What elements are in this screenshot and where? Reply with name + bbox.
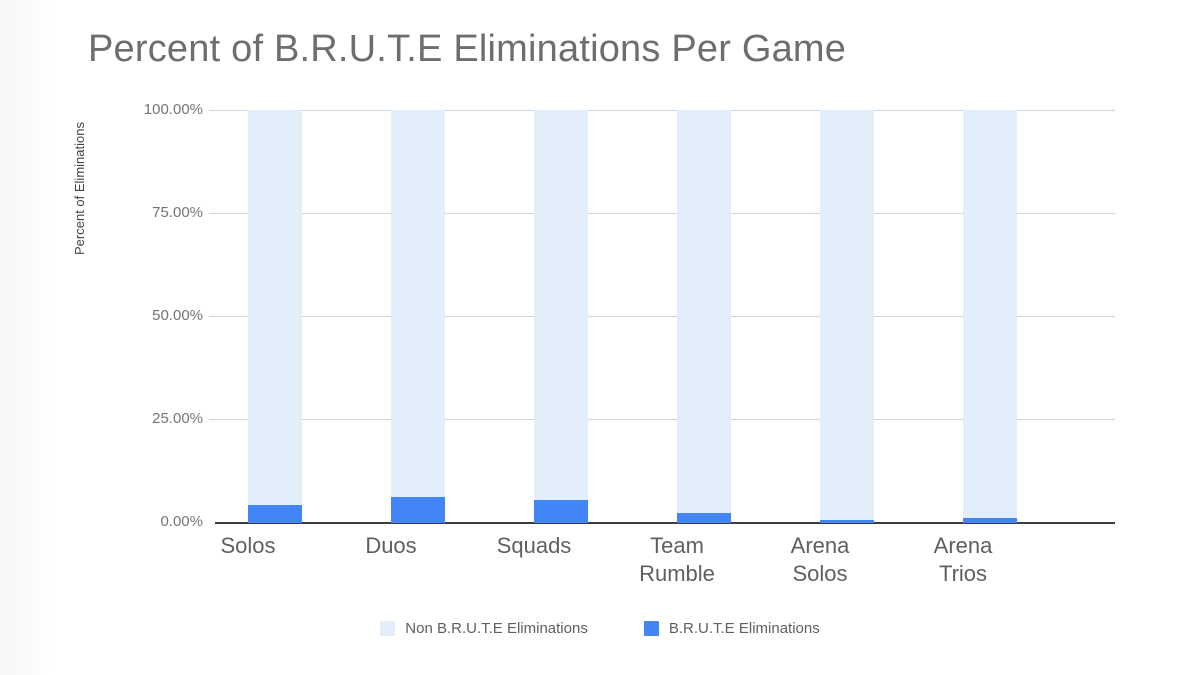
plot-area bbox=[215, 110, 1115, 523]
chart-title: Percent of B.R.U.T.E Eliminations Per Ga… bbox=[88, 28, 846, 71]
legend-label-brute: B.R.U.T.E Eliminations bbox=[669, 620, 820, 637]
x-tick-line-1: Solos bbox=[188, 532, 308, 560]
x-tick-line-1: Team bbox=[617, 532, 737, 560]
bar-segment-brute[interactable] bbox=[963, 518, 1017, 523]
bar-segment-brute[interactable] bbox=[820, 520, 874, 523]
x-tick-line-1: Squads bbox=[474, 532, 594, 560]
legend-swatch-non-brute bbox=[380, 621, 395, 636]
bar-segment-non-brute[interactable] bbox=[820, 110, 874, 523]
slide-canvas: Percent of B.R.U.T.E Eliminations Per Ga… bbox=[0, 0, 1200, 675]
y-tick-label-0: 0.00% bbox=[113, 513, 203, 530]
x-tick-line-2: Solos bbox=[760, 560, 880, 588]
bar-segment-brute[interactable] bbox=[677, 513, 731, 523]
chart-legend: Non B.R.U.T.E Eliminations B.R.U.T.E Eli… bbox=[0, 620, 1200, 637]
legend-item-brute[interactable]: B.R.U.T.E Eliminations bbox=[644, 620, 820, 637]
bar-segment-non-brute[interactable] bbox=[963, 110, 1017, 523]
legend-item-non-brute[interactable]: Non B.R.U.T.E Eliminations bbox=[380, 620, 588, 637]
x-tick-line-2: Trios bbox=[903, 560, 1023, 588]
x-tick-label-duos: Duos bbox=[331, 532, 451, 560]
bar-segment-non-brute[interactable] bbox=[391, 110, 445, 523]
y-axis-title: Percent of Eliminations bbox=[72, 122, 87, 255]
x-tick-label-solos: Solos bbox=[188, 532, 308, 560]
x-tick-label-team-rumble: Team Rumble bbox=[617, 532, 737, 588]
y-axis-tick-labels: 100.00% 75.00% 50.00% 25.00% 0.00% bbox=[113, 110, 203, 523]
x-tick-label-arena-solos: Arena Solos bbox=[760, 532, 880, 588]
bar-segment-brute[interactable] bbox=[248, 505, 302, 523]
bar-segment-brute[interactable] bbox=[534, 500, 588, 523]
legend-label-non-brute: Non B.R.U.T.E Eliminations bbox=[405, 620, 588, 637]
x-tick-line-2: Rumble bbox=[617, 560, 737, 588]
bar-segment-non-brute[interactable] bbox=[534, 110, 588, 523]
stacked-bar-chart: Percent of B.R.U.T.E Eliminations Per Ga… bbox=[0, 0, 1200, 675]
x-tick-label-squads: Squads bbox=[474, 532, 594, 560]
y-tick-label-25: 25.00% bbox=[113, 410, 203, 427]
x-tick-line-1: Duos bbox=[331, 532, 451, 560]
x-tick-line-1: Arena bbox=[760, 532, 880, 560]
y-tick-label-100: 100.00% bbox=[113, 101, 203, 118]
legend-swatch-brute bbox=[644, 621, 659, 636]
bar-segment-brute[interactable] bbox=[391, 497, 445, 523]
x-tick-label-arena-trios: Arena Trios bbox=[903, 532, 1023, 588]
x-tick-line-1: Arena bbox=[903, 532, 1023, 560]
bar-segment-non-brute[interactable] bbox=[248, 110, 302, 523]
y-tick-label-75: 75.00% bbox=[113, 204, 203, 221]
y-tick-label-50: 50.00% bbox=[113, 307, 203, 324]
bar-segment-non-brute[interactable] bbox=[677, 110, 731, 523]
